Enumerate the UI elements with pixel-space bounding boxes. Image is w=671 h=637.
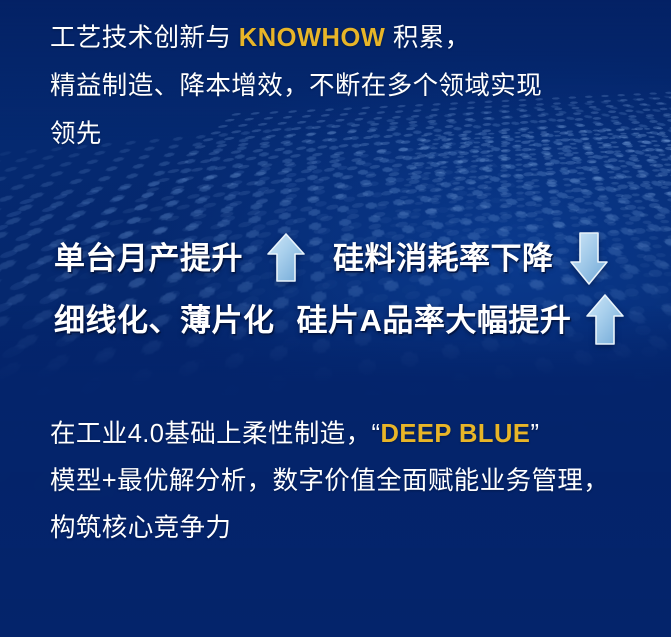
deep-blue-keyword: DEEP BLUE: [380, 420, 530, 448]
bottom-paragraph-line-1: 在工业4.0基础上柔性制造，“DEEP BLUE”: [50, 411, 651, 458]
arrow-down-icon: [567, 230, 611, 286]
bottom-paragraph-line-3: 构筑核心竞争力: [50, 505, 651, 552]
top-paragraph-line-3: 领先: [50, 110, 651, 158]
slide-canvas: 工艺技术创新与 KNOWHOW 积累， 精益制造、降本增效，不断在多个领域实现 …: [0, 0, 671, 637]
row2-label-a: 细线化、薄片化: [54, 305, 275, 336]
row1-label-b-highlight: 下降: [491, 243, 554, 274]
top-paragraph-line-1: 工艺技术创新与 KNOWHOW 积累，: [50, 14, 651, 62]
highlight-row-1: 单台月产提升 硅料消耗率下降: [54, 230, 665, 286]
top-line1-text-after: 积累，: [385, 24, 470, 52]
highlight-row-2: 细线化、薄片化 硅片A品率大幅提升: [54, 292, 665, 348]
row2-label-b: 硅片A品率: [297, 305, 446, 336]
bottom-paragraph-line-2: 模型+最优解分析，数字价值全面赋能业务管理，: [50, 458, 651, 505]
row1-label-a: 单台月产: [54, 243, 180, 274]
arrow-up-icon: [265, 232, 307, 284]
top-paragraph: 工艺技术创新与 KNOWHOW 积累， 精益制造、降本增效，不断在多个领域实现 …: [50, 14, 651, 158]
bottom-paragraph: 在工业4.0基础上柔性制造，“DEEP BLUE” 模型+最优解分析，数字价值全…: [50, 411, 651, 552]
row1-label-b: 硅料消耗率: [333, 243, 491, 274]
bottom-line3-text: 构筑核心竞争力: [50, 514, 231, 542]
top-line3-text: 领先: [50, 120, 102, 148]
arrow-up-icon: [584, 293, 626, 347]
knowhow-keyword: KNOWHOW: [239, 24, 386, 52]
slide-content: 工艺技术创新与 KNOWHOW 积累， 精益制造、降本增效，不断在多个领域实现 …: [0, 0, 671, 637]
top-paragraph-line-2: 精益制造、降本增效，不断在多个领域实现: [50, 62, 651, 110]
top-line2-text: 精益制造、降本增效，不断在多个领域实现: [50, 72, 542, 100]
top-line1-text-before: 工艺技术创新与: [50, 24, 239, 52]
row1-label-a-highlight: 提升: [180, 243, 243, 274]
bottom-line2-text: 模型+最优解分析，数字价值全面赋能业务管理，: [50, 467, 609, 495]
bottom-line1-text-before: 在工业4.0基础上柔性制造，“: [50, 420, 380, 448]
row2-label-b-highlight: 大幅提升: [445, 305, 571, 336]
bottom-line1-text-after: ”: [530, 420, 539, 448]
